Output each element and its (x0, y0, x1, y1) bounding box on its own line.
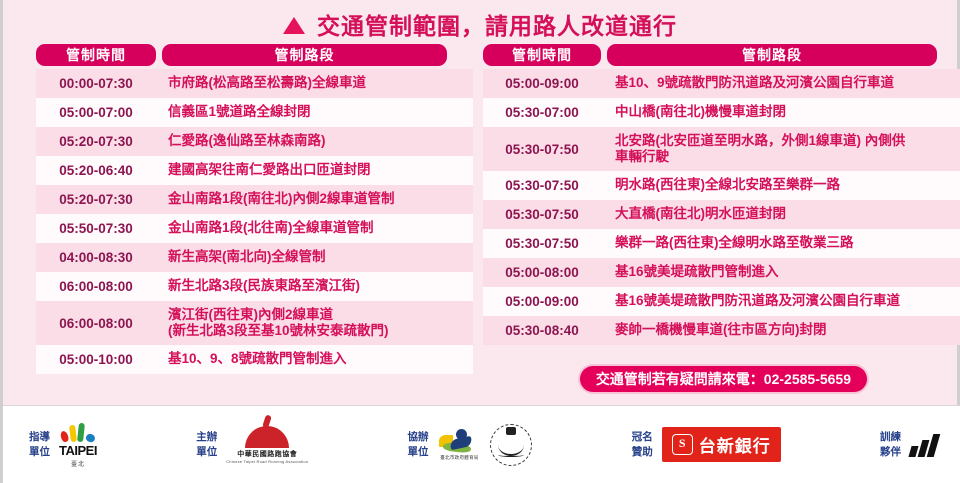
cell-control-road: 信義區1號道路全線封閉 (156, 104, 473, 120)
table-row: 06:00-08:00濱江街(西往東)內側2線車道(新生北路3段至基10號林安泰… (36, 301, 473, 345)
cell-control-road: 基10、9號疏散門防汛道路及河濱公園自行車道 (601, 75, 960, 91)
right-header-road: 管制路段 (607, 44, 937, 66)
footer-group-guidance: 指導單位 TAIPEI 臺北 (29, 422, 97, 468)
cell-control-time: 05:30-08:40 (483, 323, 601, 338)
poster-title-row: 交通管制範圍，請用路人改道通行 (3, 0, 957, 44)
taipei-mark-blue-icon (85, 432, 96, 443)
cell-control-road: 基10、9、8號疏散門管制進入 (156, 351, 473, 367)
cell-control-road: 仁愛路(逸仙路至林森南路) (156, 133, 473, 149)
right-header-time: 管制時間 (483, 44, 601, 66)
table-row: 05:00-07:00信義區1號道路全線封閉 (36, 98, 473, 127)
footer-label-guidance: 指導單位 (29, 430, 50, 458)
cell-control-road: 濱江街(西往東)內側2線車道(新生北路3段至基10號林安泰疏散門) (156, 307, 473, 340)
right-table-rows: 05:00-09:00基10、9號疏散門防汛道路及河濱公園自行車道05:30-0… (483, 69, 960, 345)
tables-container: 管制時間 管制路段 00:00-07:30市府路(松高路至松壽路)全線車道05:… (3, 44, 960, 394)
table-row: 05:30-07:50明水路(西往東)全線北安路至樂群一路 (483, 171, 960, 200)
cell-control-time: 05:30-07:50 (483, 178, 601, 193)
cell-control-road: 基16號美堤疏散門管制進入 (601, 264, 960, 280)
cell-control-road: 北安路(北安匝道至明水路，外側1線車道) 內側供車輛行駛 (601, 133, 960, 166)
contact-phone-badge[interactable]: 交通管制若有疑問請來電：02-2585-5659 (580, 366, 867, 392)
cell-control-time: 05:20-06:40 (36, 163, 156, 178)
traffic-control-poster: 交通管制範圍，請用路人改道通行 管制時間 管制路段 00:00-07:30市府路… (0, 0, 960, 483)
cell-control-time: 05:00-08:00 (483, 265, 601, 280)
cell-control-road: 金山南路1段(北往南)全線車道管制 (156, 220, 473, 236)
cell-control-road: 市府路(松高路至松壽路)全線車道 (156, 75, 473, 91)
left-control-table: 管制時間 管制路段 00:00-07:30市府路(松高路至松壽路)全線車道05:… (3, 44, 473, 394)
table-row: 05:00-09:00基16號美堤疏散門防汛道路及河濱公園自行車道 (483, 287, 960, 316)
page-title: 交通管制範圍，請用路人改道通行 (317, 7, 677, 41)
cell-control-time: 05:00-09:00 (483, 294, 601, 309)
table-row: 05:30-07:50北安路(北安匝道至明水路，外側1線車道) 內側供車輛行駛 (483, 127, 960, 171)
cell-control-road: 明水路(西往東)全線北安路至樂群一路 (601, 177, 960, 193)
taipei-mark-yellow-icon (69, 424, 77, 442)
table-row: 06:00-08:00新生北路3段(民族東路至濱江街) (36, 272, 473, 301)
cell-control-time: 05:50-07:30 (36, 221, 156, 236)
footer-group-training-partner: 訓練夥伴 (880, 430, 937, 458)
footer-label-training-partner: 訓練夥伴 (880, 430, 901, 458)
table-row: 05:20-07:30金山南路1段(南往北)內側2線車道管制 (36, 185, 473, 214)
triangle-warning-icon (283, 17, 305, 34)
footer-label-coorganizer: 協辦單位 (407, 430, 428, 458)
footer-group-organizer: 主辦單位 中華民國路跑協會 Chinese Taipei Road Runnin… (196, 426, 308, 464)
right-table-header-row: 管制時間 管制路段 (483, 44, 960, 66)
cell-control-time: 05:00-09:00 (483, 76, 601, 91)
sports-bureau-caption: 臺北市政府體育局 (440, 455, 478, 461)
cell-control-time: 06:00-08:00 (36, 316, 156, 331)
seal-wave-icon (498, 453, 524, 457)
cell-control-time: 06:00-08:00 (36, 279, 156, 294)
cell-control-time: 05:20-07:30 (36, 134, 156, 149)
left-header-road: 管制路段 (162, 44, 447, 66)
left-table-header-row: 管制時間 管制路段 (36, 44, 473, 66)
taipei-logo-word: TAIPEI (59, 443, 97, 458)
table-row: 05:30-07:50大直橋(南往北)明水匝道封閉 (483, 200, 960, 229)
taipei-logo-sub: 臺北 (71, 459, 85, 468)
cell-control-time: 05:00-07:00 (36, 105, 156, 120)
sports-bureau-art-icon (437, 429, 481, 453)
cell-control-road: 新生北路3段(民族東路至濱江街) (156, 278, 473, 294)
taishin-mark-icon: S (672, 434, 693, 455)
cell-control-time: 05:30-07:00 (483, 105, 601, 120)
table-row: 05:30-07:00中山橋(南往北)機慢車道封閉 (483, 98, 960, 127)
right-control-table: 管制時間 管制路段 05:00-09:00基10、9號疏散門防汛道路及河濱公園自… (473, 44, 960, 394)
table-row: 00:00-07:30市府路(松高路至松壽路)全線車道 (36, 69, 473, 98)
taipei-mark-red-icon (59, 430, 69, 443)
cell-control-time: 05:00-10:00 (36, 352, 156, 367)
footer-label-title-sponsor: 冠名贊助 (632, 430, 653, 458)
table-row: 05:00-10:00基10、9、8號疏散門管制進入 (36, 345, 473, 374)
table-row: 05:20-07:30仁愛路(逸仙路至林森南路) (36, 127, 473, 156)
cell-control-time: 05:30-07:50 (483, 207, 601, 222)
table-row: 05:00-09:00基10、9號疏散門防汛道路及河濱公園自行車道 (483, 69, 960, 98)
left-table-rows: 00:00-07:30市府路(松高路至松壽路)全線車道05:00-07:00信義… (36, 69, 473, 374)
sports-bureau-logo: 臺北市政府體育局 (437, 429, 481, 461)
taipei-logo-marks (61, 422, 95, 442)
table-row: 05:30-08:40麥帥一橋機慢車道(往市區方向)封閉 (483, 316, 960, 345)
crra-name-en: Chinese Taipei Road Running Association (226, 459, 308, 464)
crra-name-cn: 中華民國路跑協會 (237, 449, 297, 459)
left-header-time: 管制時間 (36, 44, 156, 66)
table-row: 05:20-06:40建國高架往南仁愛路出口匝道封閉 (36, 156, 473, 185)
footer-group-coorganizer: 協辦單位 臺北市政府體育局 (407, 424, 532, 466)
table-row: 04:00-08:30新生高架(南北向)全線管制 (36, 243, 473, 272)
table-row: 05:50-07:30金山南路1段(北往南)全線車道管制 (36, 214, 473, 243)
cell-control-road: 建國高架往南仁愛路出口匝道封閉 (156, 162, 473, 178)
footer-label-organizer: 主辦單位 (196, 430, 217, 458)
taishin-bank-name: 台新銀行 (699, 432, 771, 457)
taipei-city-logo: TAIPEI 臺北 (59, 422, 97, 468)
cell-control-time: 05:20-07:30 (36, 192, 156, 207)
cell-control-road: 樂群一路(西往東)全線明水路至敬業三路 (601, 235, 960, 251)
cell-control-time: 00:00-07:30 (36, 76, 156, 91)
cell-control-road: 大直橋(南往北)明水匝道封閉 (601, 206, 960, 222)
table-row: 05:00-08:00基16號美堤疏散門管制進入 (483, 258, 960, 287)
table-row: 05:30-07:50樂群一路(西往東)全線明水路至敬業三路 (483, 229, 960, 258)
cell-control-road: 基16號美堤疏散門防汛道路及河濱公園自行車道 (601, 293, 960, 309)
keelung-river-seal-logo (490, 424, 532, 466)
cell-control-road: 新生高架(南北向)全線管制 (156, 249, 473, 265)
cell-control-road: 中山橋(南往北)機慢車道封閉 (601, 104, 960, 120)
cell-control-time: 05:30-07:50 (483, 236, 601, 251)
cell-control-time: 04:00-08:30 (36, 250, 156, 265)
cell-control-road: 麥帥一橋機慢車道(往市區方向)封閉 (601, 322, 960, 338)
adidas-logo (910, 433, 937, 457)
cell-control-time: 05:30-07:50 (483, 142, 601, 157)
crra-dome-icon (245, 426, 289, 448)
taipei-mark-green-icon (77, 422, 85, 442)
chinese-taipei-road-running-association-logo: 中華民國路跑協會 Chinese Taipei Road Running Ass… (226, 426, 308, 464)
cell-control-road: 金山南路1段(南往北)內側2線車道管制 (156, 191, 473, 207)
sponsor-footer: 指導單位 TAIPEI 臺北 主辦單位 中華民國路跑協會 Chinese Tai… (3, 405, 960, 483)
taishin-bank-logo: S 台新銀行 (662, 427, 781, 462)
adidas-bar-3-icon (927, 434, 941, 457)
footer-group-title-sponsor: 冠名贊助 S 台新銀行 (632, 427, 781, 462)
